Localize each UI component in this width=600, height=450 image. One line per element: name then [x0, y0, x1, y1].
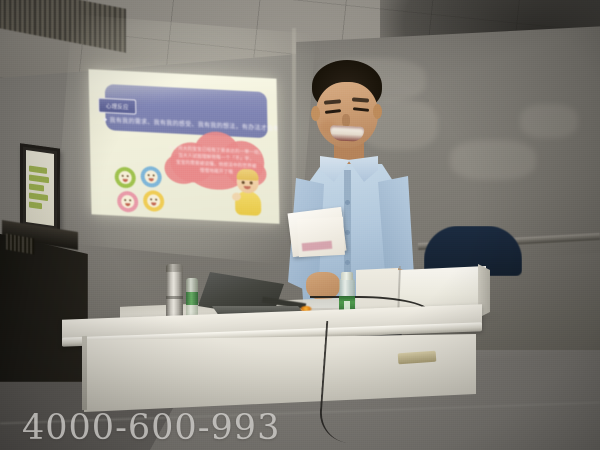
water-bottle-back-label: [186, 292, 198, 305]
face-icon-pink: [117, 191, 138, 213]
slide-face-icon-group: [115, 166, 168, 211]
face-icon-inner: [145, 170, 158, 184]
slide-title-tag: 心理反应: [98, 98, 136, 115]
baby-illustration-icon: [230, 168, 265, 216]
shirt-button: [345, 200, 350, 205]
face-icon-blue: [140, 166, 161, 188]
baby-hair: [236, 169, 258, 181]
face-icon-inner: [147, 194, 160, 208]
slide-title-tag-label: 心理反应: [106, 102, 129, 111]
desk-left-edge: [82, 336, 87, 410]
poster-content: [26, 150, 54, 226]
baby-eye: [250, 181, 253, 184]
poster-text-line: [29, 201, 42, 209]
poster-text-line: [29, 183, 44, 191]
face-icon-yellow: [143, 190, 164, 212]
thermos-band: [166, 296, 183, 299]
poster-text-line: [29, 174, 49, 183]
presenter-ear: [311, 106, 320, 121]
face-icon-mouth: [149, 178, 154, 181]
baby-eye: [242, 181, 245, 184]
thermos-cap: [166, 264, 183, 272]
whiteboard-smudge: [520, 104, 578, 138]
shirt-button: [345, 260, 350, 265]
cloud-text-line: 慢慢地敞开了哦: [200, 168, 233, 175]
water-bottle-front-cap: [341, 272, 353, 280]
whiteboard-smudge: [450, 140, 536, 180]
presenter-ear: [373, 104, 382, 119]
face-icon-mouth: [123, 179, 128, 182]
equipment-cabinet: [0, 232, 88, 382]
projected-slide: 心理反应 我有我的需求、我有我的感受、我有我的想法，有办法才会有行动。 十个月大…: [89, 69, 280, 224]
face-icon-inner: [119, 171, 132, 185]
framed-wall-poster: [20, 143, 60, 233]
photo-scene: 心理反应 我有我的需求、我有我的感受、我有我的想法，有办法才会有行动。 十个月大…: [0, 0, 600, 450]
face-icon-mouth: [125, 203, 130, 206]
poster-text-line: [29, 192, 48, 201]
thermos-flask: [166, 268, 183, 320]
poster-text-line: [29, 165, 47, 174]
face-icon-green: [115, 166, 136, 188]
bullet-marker-icon: [103, 117, 107, 121]
face-icon-inner: [121, 195, 134, 209]
shirt-button: [345, 230, 350, 235]
face-icon-mouth: [151, 202, 156, 205]
slide-content: 心理反应 我有我的需求、我有我的感受、我有我的想法，有办法才会有行动。 十个月大…: [89, 69, 280, 224]
